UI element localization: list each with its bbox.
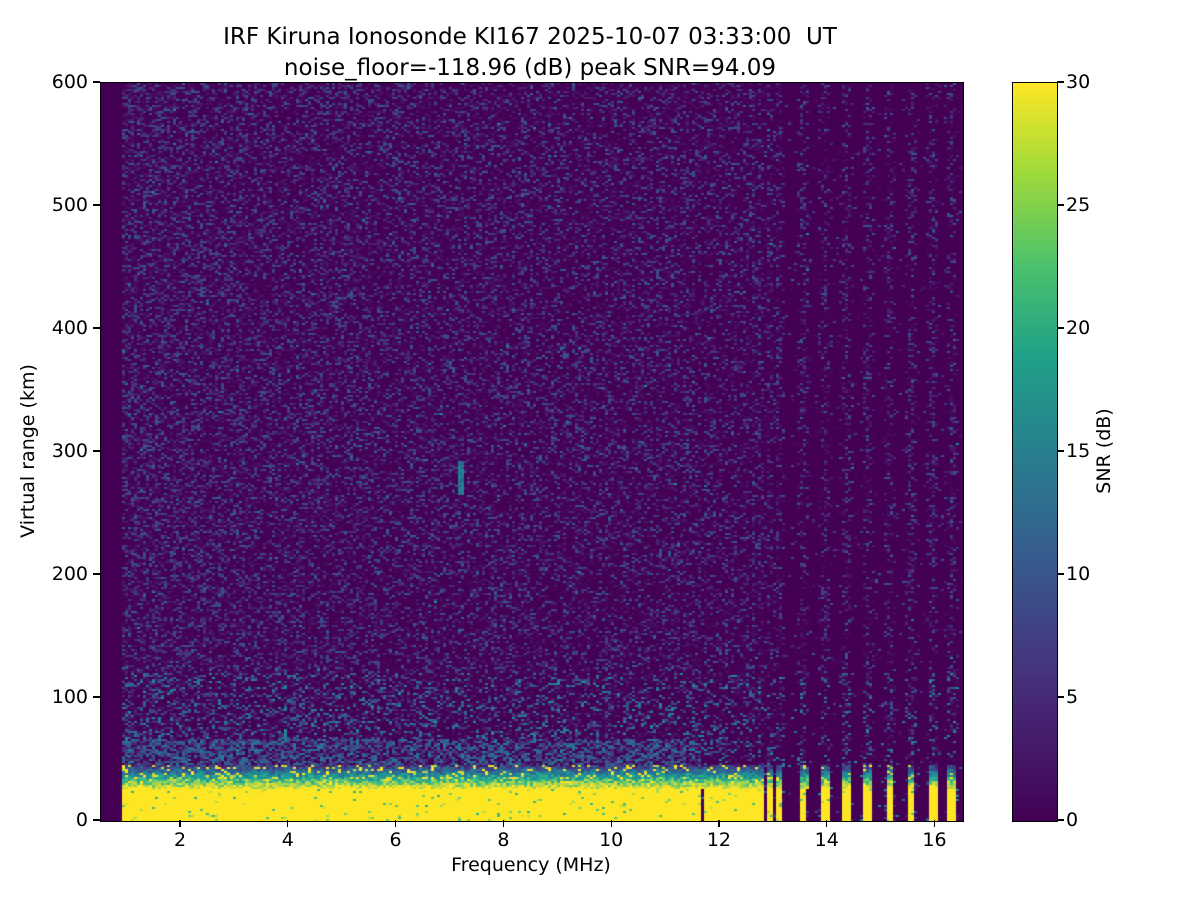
- colorbar-tick-label: 5: [1066, 686, 1078, 708]
- colorbar-tick-mark: [1057, 81, 1064, 82]
- x-axis-tick-label: 4: [253, 829, 323, 851]
- x-axis-tick-mark: [826, 820, 827, 827]
- colorbar-tick-label: 10: [1066, 563, 1090, 585]
- colorbar-tick-mark: [1057, 450, 1064, 451]
- x-axis-label: Frequency (MHz): [451, 854, 611, 876]
- y-axis-tick-mark: [93, 450, 100, 451]
- colorbar-tick-label: 20: [1066, 317, 1090, 339]
- colorbar-label: SNR (dB): [1093, 408, 1115, 493]
- y-axis-tick-label: 500: [10, 194, 88, 216]
- x-axis-tick-label: 2: [145, 829, 215, 851]
- x-axis-tick-label: 12: [684, 829, 754, 851]
- x-axis-tick-mark: [503, 820, 504, 827]
- x-axis-tick-mark: [934, 820, 935, 827]
- x-axis-tick-mark: [395, 820, 396, 827]
- title-line-2: noise_floor=-118.96 (dB) peak SNR=94.09: [0, 53, 1060, 84]
- x-axis-tick-mark: [287, 820, 288, 827]
- page-title: IRF Kiruna Ionosonde KI167 2025-10-07 03…: [0, 22, 1060, 84]
- y-axis-tick-label: 0: [10, 809, 88, 831]
- x-axis-tick-label: 16: [900, 829, 970, 851]
- ionogram-figure: IRF Kiruna Ionosonde KI167 2025-10-07 03…: [0, 0, 1200, 900]
- colorbar-tick-mark: [1057, 327, 1064, 328]
- y-axis-tick-mark: [93, 81, 100, 82]
- y-axis-label: Virtual range (km): [17, 364, 39, 538]
- colorbar-tick-label: 0: [1066, 809, 1078, 831]
- colorbar-tick-mark: [1057, 204, 1064, 205]
- colorbar-tick-mark: [1057, 696, 1064, 697]
- y-axis-tick-mark: [93, 696, 100, 697]
- colorbar-ticks: 051015202530: [1012, 82, 1056, 820]
- x-axis-tick-label: 14: [792, 829, 862, 851]
- x-axis-tick-mark: [179, 820, 180, 827]
- x-axis-tick-mark: [611, 820, 612, 827]
- y-axis-tick-label: 100: [10, 686, 88, 708]
- x-axis-tick-mark: [718, 820, 719, 827]
- colorbar-tick-mark: [1057, 819, 1064, 820]
- y-axis-tick-mark: [93, 819, 100, 820]
- colorbar-tick-label: 25: [1066, 194, 1090, 216]
- y-axis-tick-mark: [93, 327, 100, 328]
- title-line-1: IRF Kiruna Ionosonde KI167 2025-10-07 03…: [0, 22, 1060, 53]
- y-axis-tick-label: 200: [10, 563, 88, 585]
- y-axis-tick-label: 600: [10, 71, 88, 93]
- x-axis: 246810121416: [100, 82, 962, 820]
- x-axis-tick-label: 8: [468, 829, 538, 851]
- y-axis-tick-label: 400: [10, 317, 88, 339]
- x-axis-tick-label: 10: [576, 829, 646, 851]
- colorbar-tick-label: 30: [1066, 71, 1090, 93]
- x-axis-tick-label: 6: [361, 829, 431, 851]
- colorbar-tick-mark: [1057, 573, 1064, 574]
- y-axis-tick-mark: [93, 573, 100, 574]
- colorbar-tick-label: 15: [1066, 440, 1090, 462]
- y-axis-tick-mark: [93, 204, 100, 205]
